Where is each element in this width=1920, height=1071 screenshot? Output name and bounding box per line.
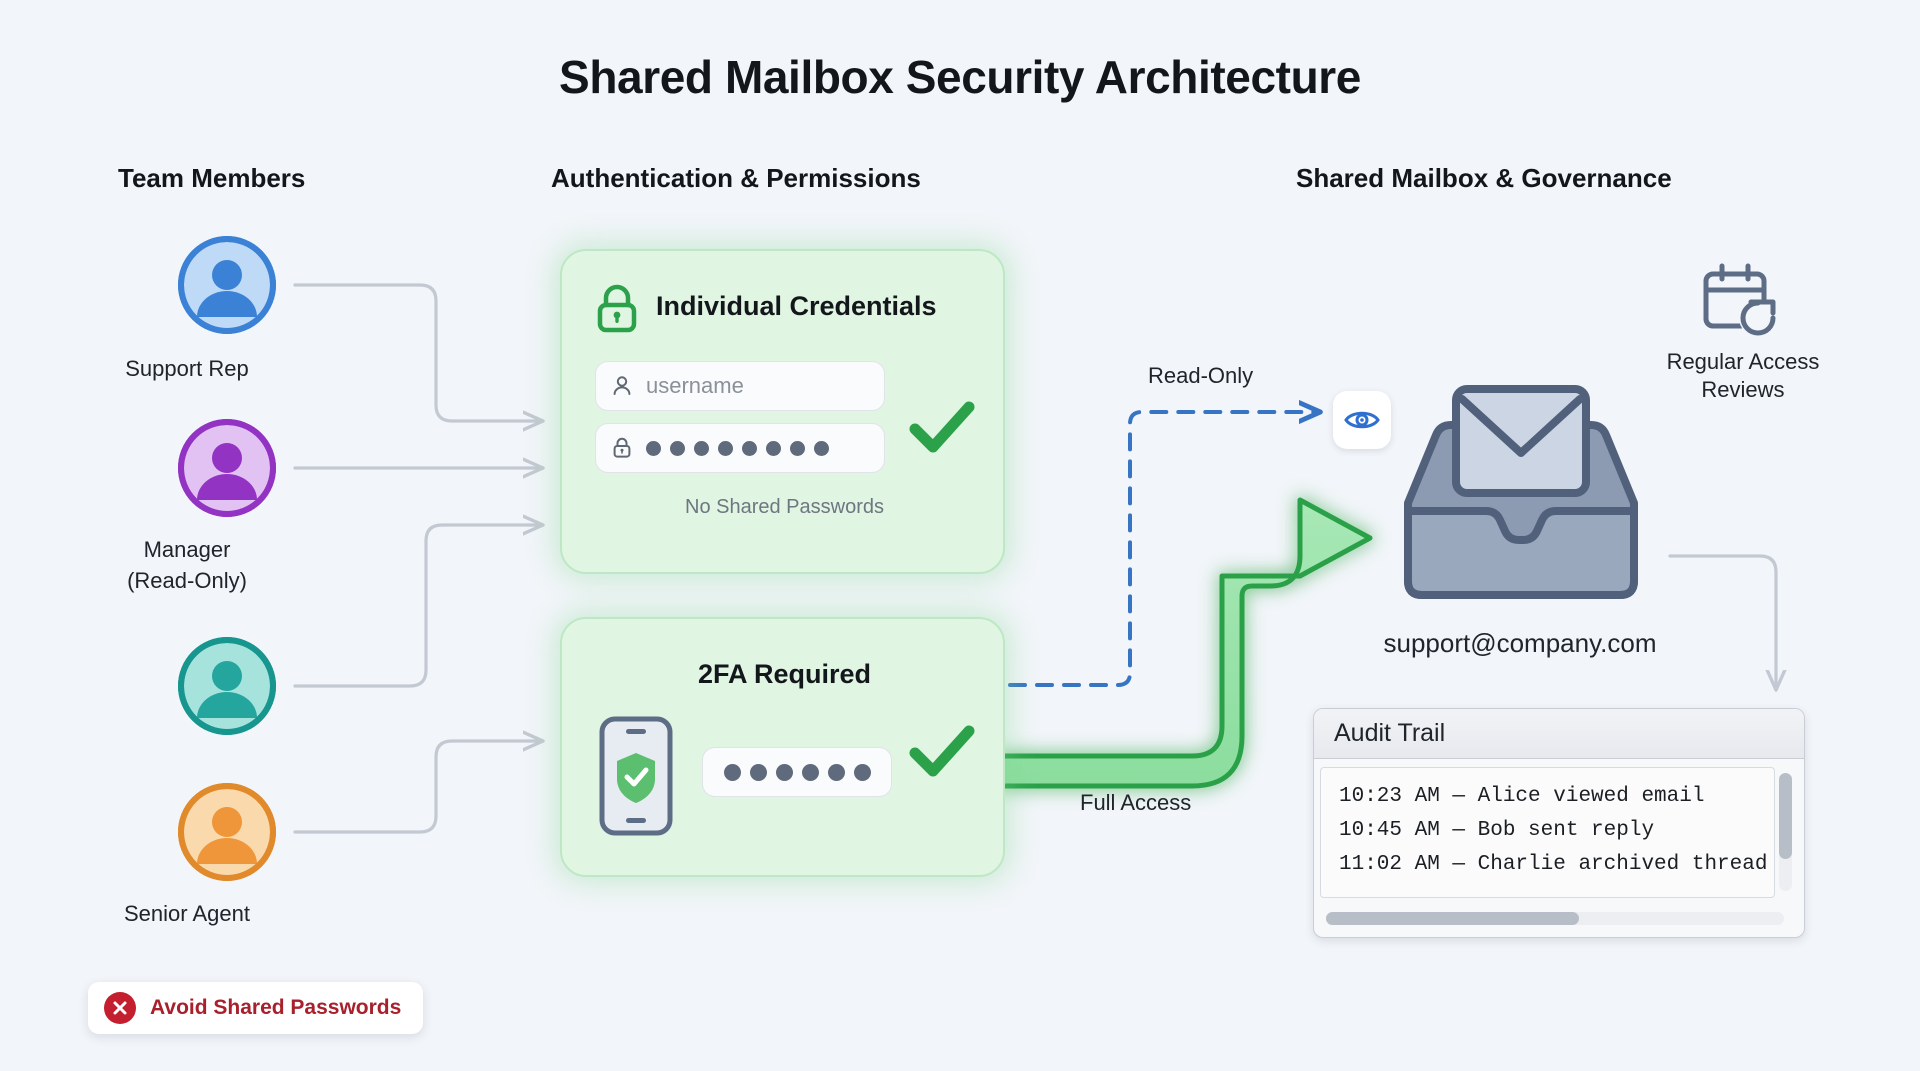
- column-heading-authentication: Authentication & Permissions: [551, 163, 921, 194]
- x-glyph-icon: [111, 999, 129, 1017]
- masked-dot: [828, 764, 845, 781]
- audit-log-entry: 10:45 AM — Bob sent reply: [1339, 814, 1774, 848]
- avatar-senior-agent[interactable]: [177, 782, 277, 882]
- user-avatar-icon: [177, 782, 277, 882]
- label-read-only: Read-Only: [1148, 363, 1253, 389]
- password-masked-dots: [646, 441, 829, 456]
- connector-senior-agent-to-2fa: [295, 741, 543, 832]
- masked-dot: [742, 441, 757, 456]
- user-avatar-icon: [177, 418, 277, 518]
- card-individual-credentials: Individual Credentials username No Share…: [560, 249, 1005, 574]
- label-manager-line2: (Read-Only): [57, 567, 317, 595]
- masked-dot: [646, 441, 661, 456]
- label-support-rep: Support Rep: [57, 355, 317, 383]
- username-field[interactable]: username: [595, 361, 885, 411]
- masked-dot: [790, 441, 805, 456]
- masked-dot: [814, 441, 829, 456]
- otp-masked-dots: [724, 764, 871, 781]
- calendar-refresh-icon: [1700, 262, 1786, 342]
- masked-dot: [776, 764, 793, 781]
- label-regular-access-reviews: Regular Access Reviews: [1613, 348, 1873, 403]
- audit-trail-title: Audit Trail: [1334, 719, 1445, 748]
- otp-field[interactable]: [702, 747, 892, 797]
- audit-horizontal-scroll-thumb[interactable]: [1326, 912, 1579, 925]
- caption-no-shared-passwords: No Shared Passwords: [562, 496, 1007, 519]
- avatar-support-rep[interactable]: [177, 235, 277, 335]
- masked-dot: [724, 764, 741, 781]
- audit-trail-log[interactable]: 10:23 AM — Alice viewed email10:45 AM — …: [1320, 767, 1775, 898]
- audit-log-entry: 10:23 AM — Alice viewed email: [1339, 780, 1774, 814]
- reviews-label-line1: Regular Access: [1613, 348, 1873, 376]
- masked-dot: [802, 764, 819, 781]
- mailbox-tray-icon[interactable]: [1378, 381, 1664, 617]
- user-avatar-icon: [177, 235, 277, 335]
- username-placeholder-text: username: [646, 373, 744, 399]
- password-field[interactable]: [595, 423, 885, 473]
- column-heading-team-members: Team Members: [118, 163, 305, 194]
- audit-log-entry: 11:02 AM — Charlie archived thread: [1339, 848, 1774, 882]
- masked-dot: [854, 764, 871, 781]
- reviews-label-line2: Reviews: [1613, 376, 1873, 404]
- card-title-2fa: 2FA Required: [562, 659, 1007, 690]
- lock-small-icon: [610, 436, 634, 460]
- masked-dot: [670, 441, 685, 456]
- warning-badge-text: Avoid Shared Passwords: [150, 996, 401, 1020]
- connector-teal-to-credentials: [295, 525, 543, 686]
- audit-horizontal-scrollbar[interactable]: [1326, 912, 1784, 925]
- diagram-canvas: Shared Mailbox Security Architecture Tea…: [0, 0, 1920, 1071]
- avatar-team-member-3[interactable]: [177, 636, 277, 736]
- user-avatar-icon: [177, 636, 277, 736]
- label-senior-agent: Senior Agent: [57, 900, 317, 928]
- connector-support-rep-to-credentials: [295, 285, 543, 421]
- label-full-access: Full Access: [1080, 790, 1191, 816]
- warning-badge-avoid-shared-passwords[interactable]: Avoid Shared Passwords: [88, 982, 423, 1034]
- masked-dot: [766, 441, 781, 456]
- card-title-credentials: Individual Credentials: [656, 291, 937, 322]
- eye-icon: [1344, 407, 1380, 433]
- connector-mailbox-to-audit: [1670, 556, 1776, 690]
- lock-icon: [594, 284, 640, 334]
- masked-dot: [750, 764, 767, 781]
- audit-trail-panel: Audit Trail 10:23 AM — Alice viewed emai…: [1313, 708, 1805, 938]
- check-icon: [907, 721, 977, 783]
- audit-vertical-scrollbar[interactable]: [1779, 773, 1792, 891]
- phone-shield-icon: [598, 715, 674, 837]
- mailbox-address: support@company.com: [1280, 628, 1760, 659]
- column-heading-governance: Shared Mailbox & Governance: [1296, 163, 1672, 194]
- audit-trail-title-bar: Audit Trail: [1314, 709, 1804, 759]
- masked-dot: [694, 441, 709, 456]
- audit-vertical-scroll-thumb[interactable]: [1779, 773, 1792, 859]
- user-icon: [610, 374, 634, 398]
- masked-dot: [718, 441, 733, 456]
- check-icon: [907, 397, 977, 459]
- label-manager-line1: Manager: [57, 536, 317, 564]
- flow-read-only-path: [1010, 412, 1318, 685]
- card-2fa-required: 2FA Required: [560, 617, 1005, 877]
- page-title: Shared Mailbox Security Architecture: [0, 50, 1920, 104]
- x-circle-icon: [104, 992, 136, 1024]
- avatar-manager[interactable]: [177, 418, 277, 518]
